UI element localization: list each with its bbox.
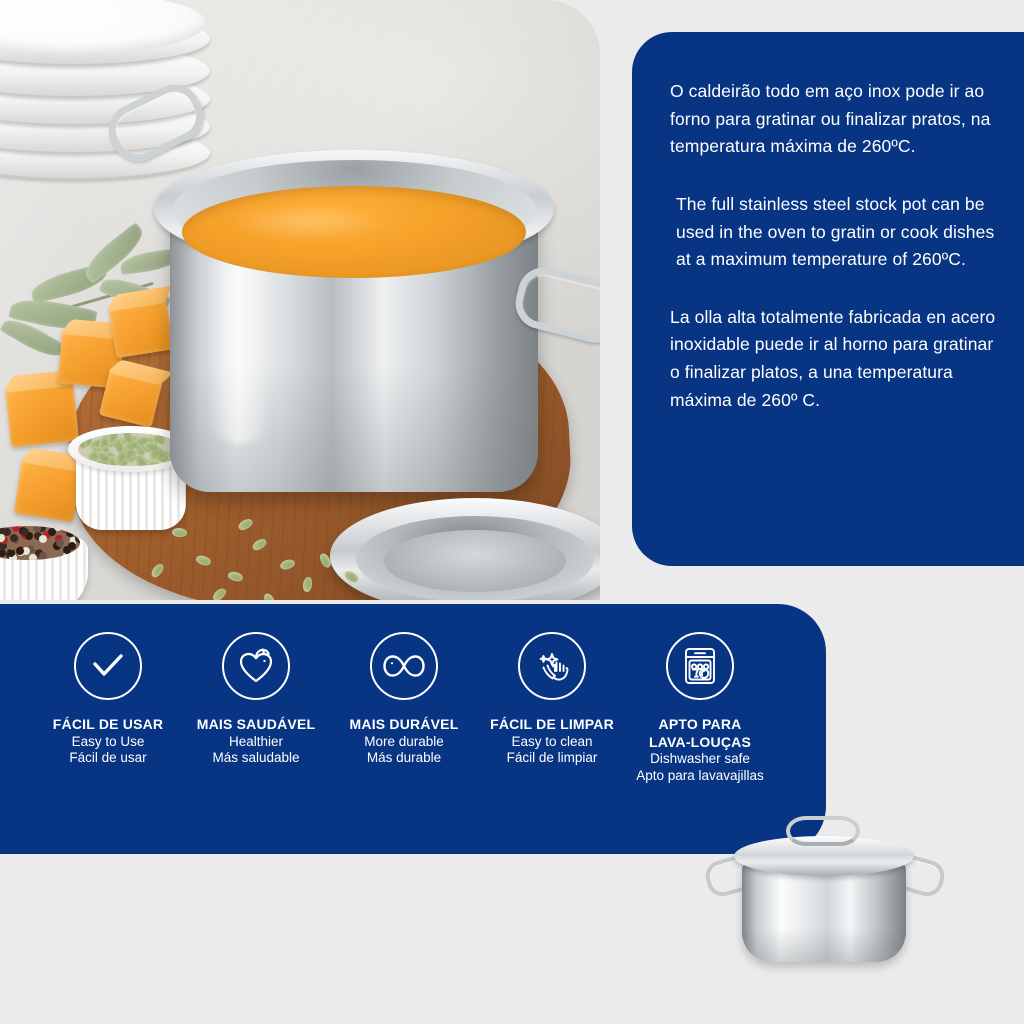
feature-sub-en: Dishwasher safe [650,751,750,768]
feature-sub-en: Easy to clean [511,734,592,751]
feature-healthier: MAIS SAUDÁVEL Healthier Más saludable [182,632,330,767]
description-english: The full stainless steel stock pot can b… [670,191,1000,274]
pot-lid [330,498,600,600]
stock-pot [146,64,566,504]
feature-dishwasher-safe: APTO PARA LAVA-LOUÇAS Dishwasher safe Ap… [626,632,774,785]
feature-title: FÁCIL DE LIMPAR [490,716,614,733]
dishwasher-icon [666,632,734,700]
pumpkin-soup [182,186,526,278]
thumb-lid-handle [786,816,860,846]
pumpkin-seed [172,527,188,537]
product-thumbnail [700,800,950,970]
feature-easy-to-use: FÁCIL DE USAR Easy to Use Fácil de usar [34,632,182,767]
feature-title: FÁCIL DE USAR [53,716,163,733]
feature-easy-to-clean: FÁCIL DE LIMPAR Easy to clean Fácil de l… [478,632,626,767]
thumb-pot-body [742,862,906,962]
feature-sub-es: Fácil de limpiar [507,750,598,767]
cleaning-hand-icon [518,632,586,700]
checkmark-icon [74,632,142,700]
feature-title: MAIS SAUDÁVEL [197,716,316,733]
feature-sub-es: Más saludable [212,750,299,767]
feature-sub-en: Healthier [229,734,283,751]
peppercorn-bowl [0,520,88,600]
infinity-icon [370,632,438,700]
feature-sub-es: Fácil de usar [69,750,146,767]
product-photo-panel [0,0,600,600]
description-portuguese: O caldeirão todo em aço inox pode ir ao … [670,78,1000,161]
description-spanish: La olla alta totalmente fabricada en ace… [670,304,1000,415]
feature-title-line1: APTO PARA [659,716,742,733]
feature-title: MAIS DURÁVEL [350,716,459,733]
product-photo [0,0,600,600]
feature-more-durable: MAIS DURÁVEL More durable Más durable [330,632,478,767]
description-panel: O caldeirão todo em aço inox pode ir ao … [632,32,1024,566]
feature-title-line2: LAVA-LOUÇAS [649,734,751,751]
feature-sub-es: Apto para lavavajillas [636,768,764,785]
feature-sub-en: More durable [364,734,444,751]
feature-sub-en: Easy to Use [72,734,145,751]
feature-sub-es: Más durable [367,750,441,767]
apple-heart-icon [222,632,290,700]
